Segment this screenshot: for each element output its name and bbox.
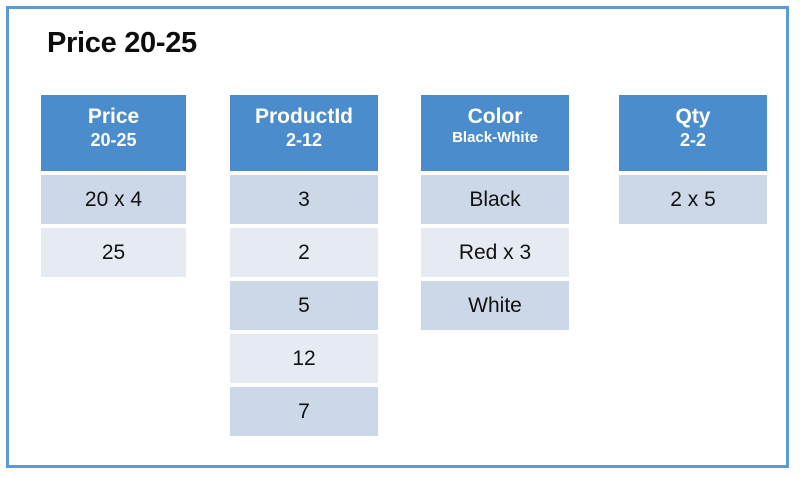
table-row: 12 [230,334,378,383]
table-row: Red x 3 [421,228,569,277]
table-row: 5 [230,281,378,330]
column-header-color: Color Black-White [421,95,569,171]
column-group: Price 20-25 20 x 4 25 ProductId 2-12 3 2… [9,9,786,465]
table-row: 2 [230,228,378,277]
table-row: 20 x 4 [41,175,186,224]
column-header-subtitle: 2-2 [623,129,763,152]
column-qty: Qty 2-2 2 x 5 [619,95,767,228]
table-row: 3 [230,175,378,224]
table-row: White [421,281,569,330]
slide-canvas: Price 20-25 Price 20-25 20 x 4 25 Produc… [6,6,789,468]
table-row: 7 [230,387,378,436]
column-header-subtitle: Black-White [425,129,565,148]
column-header-title: ProductId [234,104,374,129]
table-row: 2 x 5 [619,175,767,224]
table-row: 25 [41,228,186,277]
column-header-price: Price 20-25 [41,95,186,171]
column-header-subtitle: 20-25 [45,129,182,152]
column-header-title: Qty [623,104,763,129]
column-header-subtitle: 2-12 [234,129,374,152]
column-header-title: Color [425,104,565,129]
column-header-title: Price [45,104,182,129]
column-header-productid: ProductId 2-12 [230,95,378,171]
table-row: Black [421,175,569,224]
column-header-qty: Qty 2-2 [619,95,767,171]
column-color: Color Black-White Black Red x 3 White [421,95,569,334]
column-productid: ProductId 2-12 3 2 5 12 7 [230,95,378,440]
column-price: Price 20-25 20 x 4 25 [41,95,186,281]
